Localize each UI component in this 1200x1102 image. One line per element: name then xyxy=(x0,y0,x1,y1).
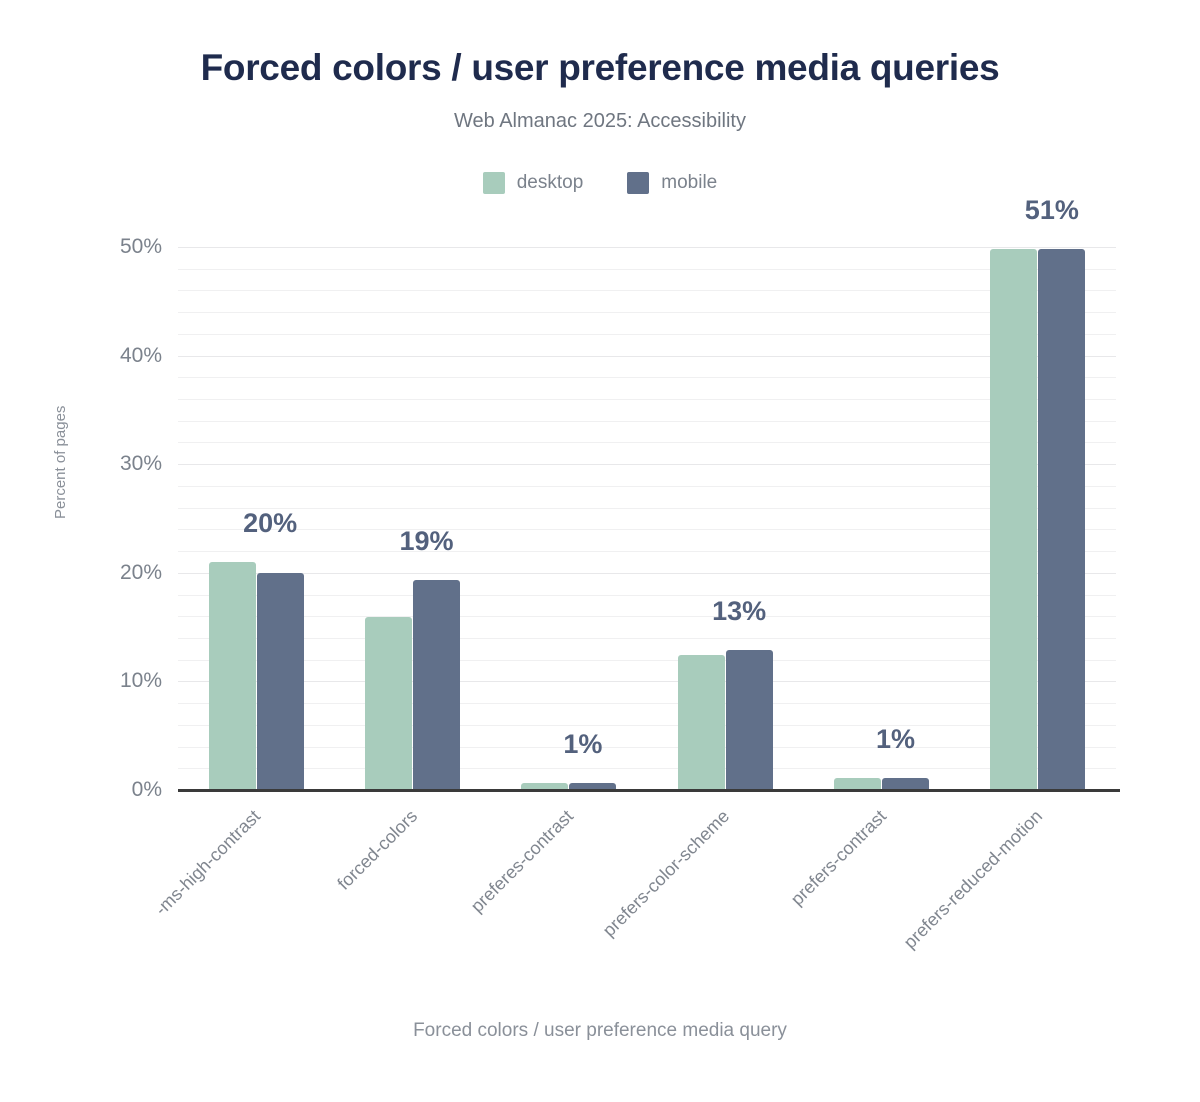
gridline-minor xyxy=(178,486,1116,487)
bar-value-label: 51% xyxy=(1025,195,1079,226)
bar-desktop-forced-colors[interactable] xyxy=(365,617,412,790)
chart-legend: desktop mobile xyxy=(0,172,1200,194)
gridline-minor xyxy=(178,421,1116,422)
gridline-minor xyxy=(178,442,1116,443)
bar-mobile-prefers-reduced-motion[interactable] xyxy=(1038,249,1085,790)
gridline-minor xyxy=(178,508,1116,509)
bar-mobile--ms-high-contrast[interactable] xyxy=(257,573,304,790)
bar-value-label: 20% xyxy=(243,508,297,539)
gridline-minor xyxy=(178,399,1116,400)
y-axis-tick-label: 30% xyxy=(88,452,162,476)
bar-value-label: 1% xyxy=(876,724,915,755)
y-axis-tick-label: 0% xyxy=(88,778,162,802)
bar-value-label: 1% xyxy=(563,729,602,760)
gridline-minor xyxy=(178,377,1116,378)
plot-area: 20%19%1%13%1%51% xyxy=(178,247,1116,790)
y-axis-tick-label: 10% xyxy=(88,669,162,693)
gridline-major xyxy=(178,464,1116,465)
gridline-minor xyxy=(178,312,1116,313)
x-axis-tick-label: -ms-high-contrast xyxy=(151,806,265,920)
gridline-minor xyxy=(178,529,1116,530)
y-axis-tick-label: 40% xyxy=(88,344,162,368)
gridline-minor xyxy=(178,768,1116,769)
gridline-major xyxy=(178,573,1116,574)
legend-swatch-icon-mobile xyxy=(627,172,649,194)
x-axis-tick-label: forced-colors xyxy=(333,806,421,894)
gridline-minor xyxy=(178,290,1116,291)
bar-value-label: 19% xyxy=(399,526,453,557)
x-axis-tick-label: prefers-contrast xyxy=(786,806,890,910)
y-axis-tick-label: 50% xyxy=(88,235,162,259)
legend-label-desktop: desktop xyxy=(517,172,584,194)
x-axis-title: Forced colors / user preference media qu… xyxy=(0,1020,1200,1042)
x-axis-tick-label: prefers-color-scheme xyxy=(599,806,734,941)
x-axis-tick-label: prefers-reduced-motion xyxy=(900,806,1047,953)
bar-desktop-prefers-color-scheme[interactable] xyxy=(678,655,725,790)
y-axis-title: Percent of pages xyxy=(52,406,69,519)
gridline-minor xyxy=(178,334,1116,335)
bar-mobile-prefers-color-scheme[interactable] xyxy=(726,650,773,790)
bar-desktop-prefers-reduced-motion[interactable] xyxy=(990,249,1037,790)
gridline-minor xyxy=(178,703,1116,704)
chart-subtitle: Web Almanac 2025: Accessibility xyxy=(0,110,1200,133)
gridline-minor xyxy=(178,660,1116,661)
gridline-major xyxy=(178,356,1116,357)
gridline-minor xyxy=(178,595,1116,596)
gridline-major xyxy=(178,681,1116,682)
legend-item-mobile[interactable]: mobile xyxy=(627,172,717,194)
gridline-minor xyxy=(178,269,1116,270)
bar-value-label: 13% xyxy=(712,596,766,627)
gridline-minor xyxy=(178,725,1116,726)
legend-swatch-icon-desktop xyxy=(483,172,505,194)
legend-label-mobile: mobile xyxy=(661,172,717,194)
bar-mobile-forced-colors[interactable] xyxy=(413,580,460,790)
chart-figure: Forced colors / user preference media qu… xyxy=(0,0,1200,1102)
legend-item-desktop[interactable]: desktop xyxy=(483,172,584,194)
gridline-minor xyxy=(178,551,1116,552)
gridline-minor xyxy=(178,616,1116,617)
gridline-minor xyxy=(178,638,1116,639)
gridline-minor xyxy=(178,747,1116,748)
x-axis-tick-label: preferes-contrast xyxy=(467,806,578,917)
gridline-major xyxy=(178,247,1116,248)
y-axis-tick-label: 20% xyxy=(88,561,162,585)
x-axis-baseline xyxy=(178,789,1120,792)
page-title: Forced colors / user preference media qu… xyxy=(0,48,1200,89)
bar-desktop--ms-high-contrast[interactable] xyxy=(209,562,256,790)
